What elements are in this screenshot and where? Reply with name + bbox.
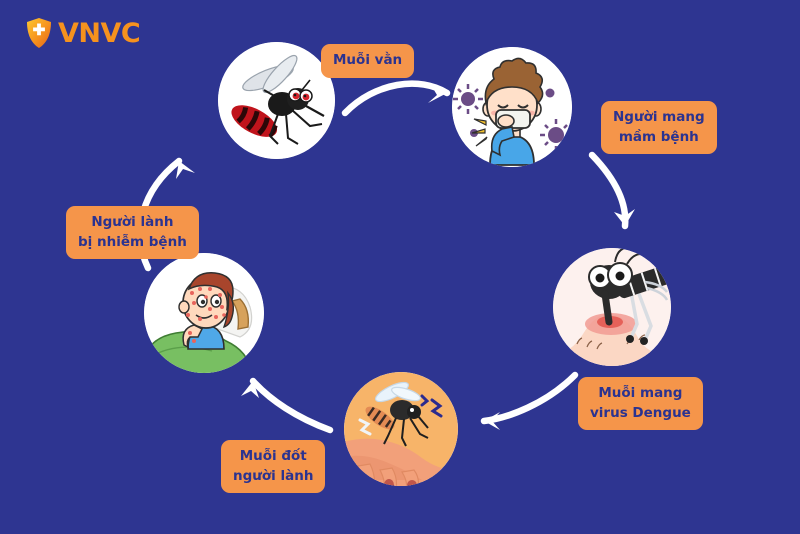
infographic-canvas: VNVC	[0, 0, 800, 534]
striped-mosquito-illustration	[218, 42, 335, 159]
label-step-carrier[interactable]: Người mang mầm bệnh	[601, 101, 717, 154]
label-step-newly-infected[interactable]: Người lành bị nhiễm bệnh	[66, 206, 199, 259]
vnvc-logo[interactable]: VNVC	[26, 18, 140, 48]
arrow-carrier-to-infected-mosquito	[592, 155, 625, 226]
arrow-infected-mosquito-to-bite	[484, 375, 575, 421]
arrowhead-to-bite	[484, 412, 500, 430]
arrowhead-to-infected-mosquito	[614, 209, 635, 226]
mosquito-biting-hand-illustration	[344, 372, 458, 486]
label-step-infected-mosquito[interactable]: Muỗi mang virus Dengue	[578, 377, 703, 430]
sick-person-coughing-illustration	[452, 47, 572, 167]
mosquito-biting-skin-illustration	[553, 248, 671, 366]
arrowhead-to-mosquito	[176, 161, 195, 179]
arrowhead-to-newly-infected	[241, 381, 259, 398]
arrow-mosquito-to-carrier	[345, 84, 447, 113]
arrowhead-to-carrier	[428, 85, 447, 103]
label-step-mosquito[interactable]: Muỗi vằn	[321, 44, 414, 78]
arrow-bite-to-newly-infected	[253, 381, 330, 430]
brand-name: VNVC	[58, 20, 140, 47]
sick-child-in-bed-illustration	[144, 253, 264, 373]
label-step-bite[interactable]: Muỗi đốt người lành	[221, 440, 325, 493]
shield-cross-icon	[26, 18, 52, 48]
